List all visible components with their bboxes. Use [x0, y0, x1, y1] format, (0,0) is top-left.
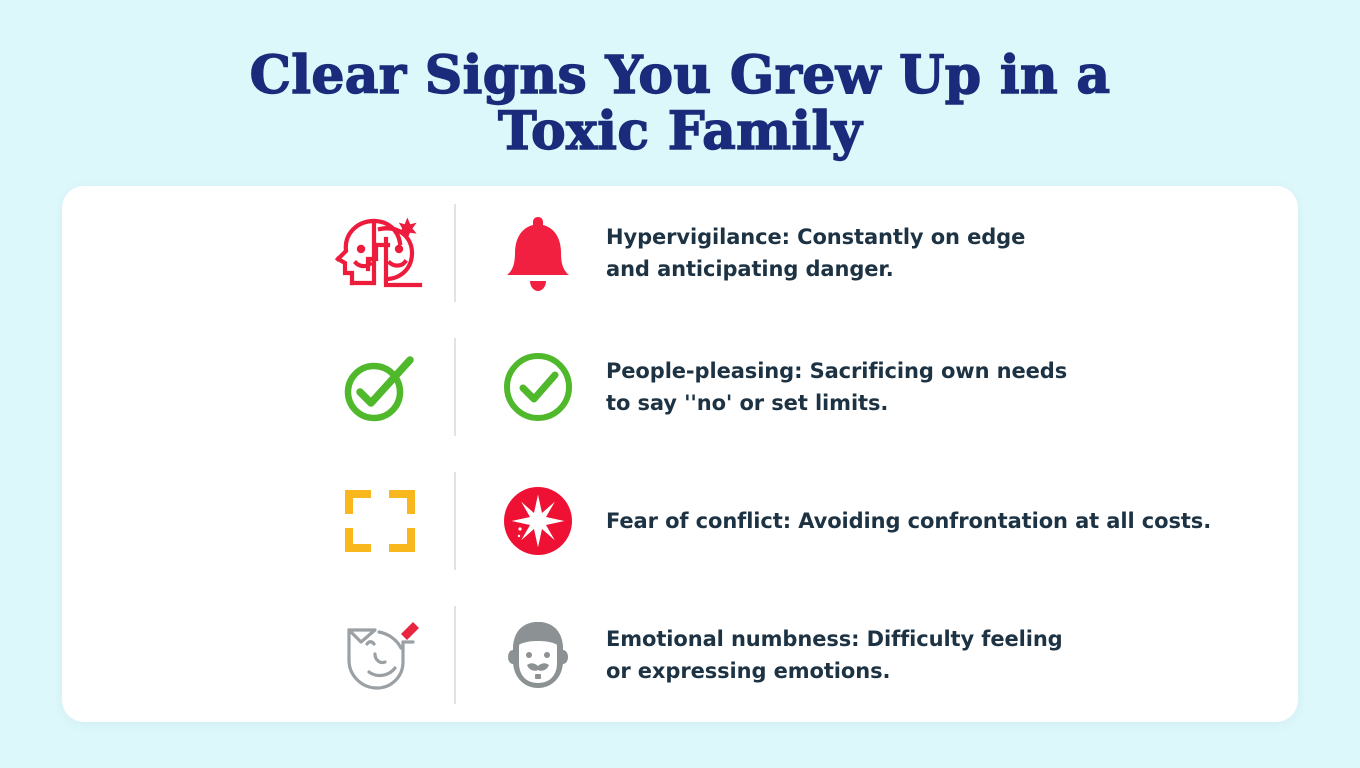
list-item: Fear of conflict: Avoiding confrontation…	[62, 454, 1298, 588]
list-item-text: Emotional numbness: Difficulty feeling o…	[606, 623, 1076, 687]
signs-card: Hypervigilance: Constantly on edge and a…	[62, 186, 1298, 722]
bell-icon	[484, 205, 592, 301]
list-item-text: Fear of conflict: Avoiding confrontation…	[606, 505, 1211, 537]
face-sketch-pen-icon	[324, 605, 436, 705]
signs-list: Hypervigilance: Constantly on edge and a…	[62, 186, 1298, 722]
face-mustache-icon	[484, 607, 592, 703]
infographic-page: Clear Signs You Grew Up in a Toxic Famil…	[0, 0, 1360, 768]
row-divider	[454, 472, 456, 570]
list-item-text: People-pleasing: Sacrificing own needs t…	[606, 355, 1076, 419]
dashed-square-icon	[324, 471, 436, 571]
starburst-circle-icon	[484, 473, 592, 569]
row-divider	[454, 204, 456, 302]
page-title: Clear Signs You Grew Up in a Toxic Famil…	[180, 48, 1180, 160]
list-item: People-pleasing: Sacrificing own needs t…	[62, 320, 1298, 454]
row-divider	[454, 606, 456, 704]
list-item: Emotional numbness: Difficulty feeling o…	[62, 588, 1298, 722]
list-item-text: Hypervigilance: Constantly on edge and a…	[606, 221, 1076, 285]
two-heads-thinking-icon	[324, 203, 436, 303]
row-divider	[454, 338, 456, 436]
check-circle-outline-icon	[324, 337, 436, 437]
check-circle-icon	[484, 339, 592, 435]
list-item: Hypervigilance: Constantly on edge and a…	[62, 186, 1298, 320]
